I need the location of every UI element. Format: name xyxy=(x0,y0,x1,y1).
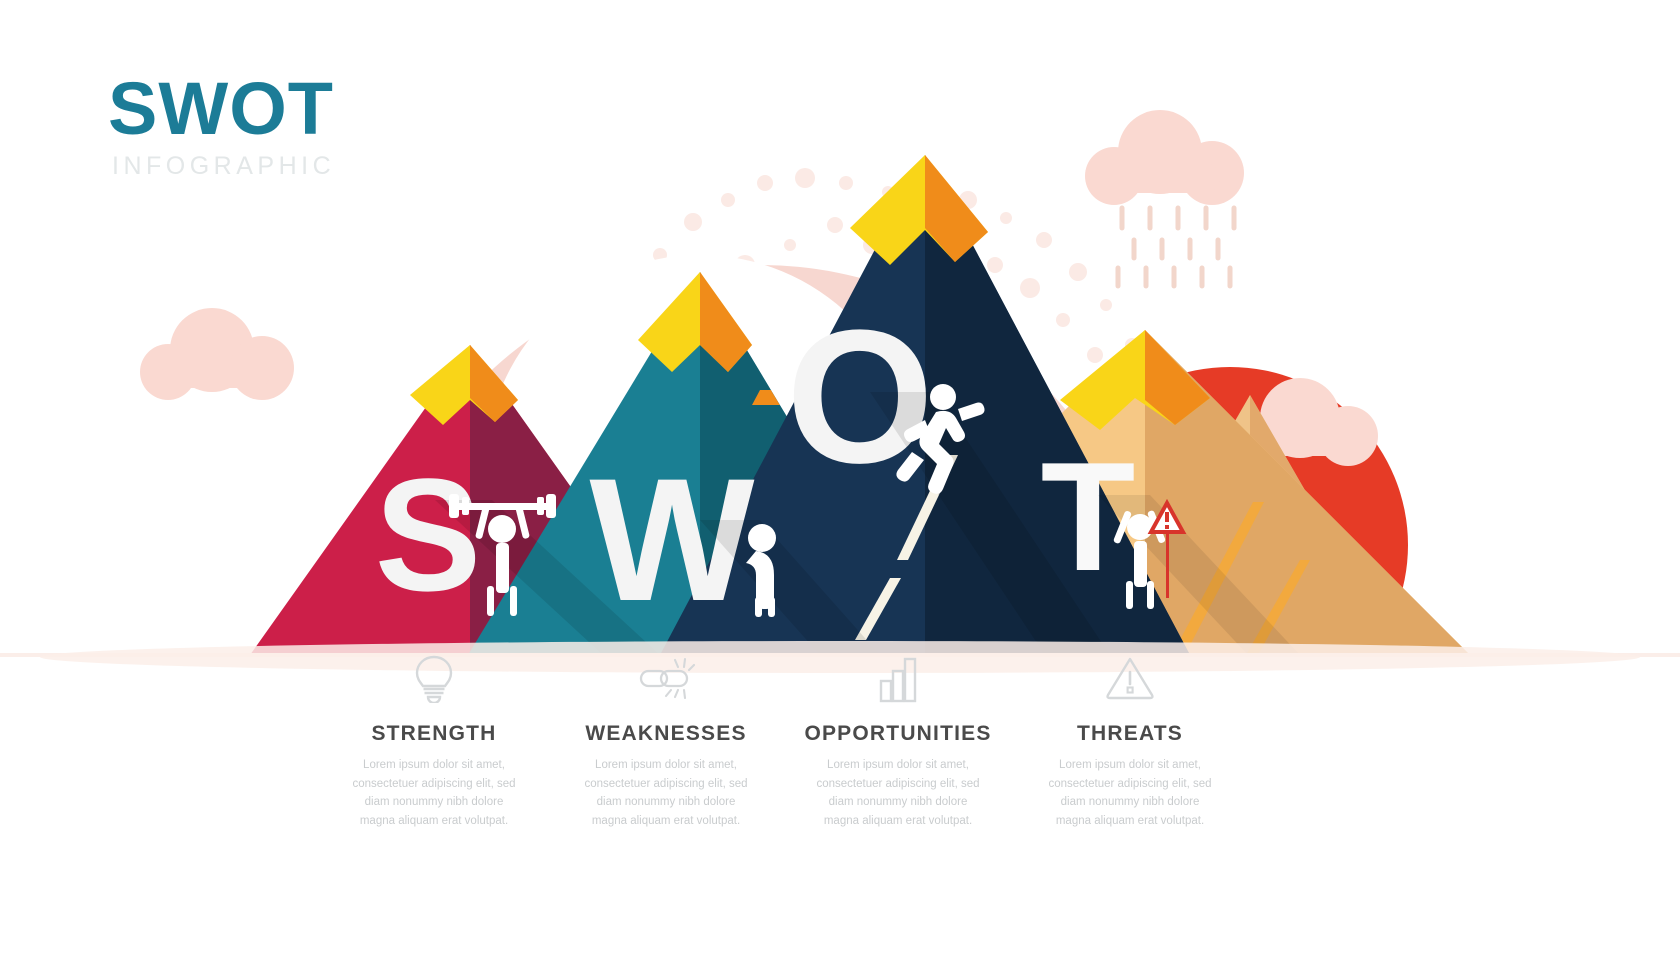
page-subtitle: INFOGRAPHIC xyxy=(112,152,528,181)
legend-body: Lorem ipsum dolor sit amet, consectetuer… xyxy=(816,756,980,831)
raindrops xyxy=(1118,208,1234,286)
legend-item-strength[interactable]: STRENGTH Lorem ipsum dolor sit amet, con… xyxy=(318,650,550,831)
legend-body: Lorem ipsum dolor sit amet, consectetuer… xyxy=(584,756,748,831)
legend-item-weaknesses[interactable]: WEAKNESSES Lorem ipsum dolor sit amet, c… xyxy=(550,650,782,831)
legend-body: Lorem ipsum dolor sit amet, consectetuer… xyxy=(1048,756,1212,831)
bar-chart-icon xyxy=(877,650,919,706)
broken-chain-icon xyxy=(637,650,695,706)
cloud-left xyxy=(140,308,294,400)
page-title: SWOT xyxy=(108,74,528,144)
lightbulb-icon xyxy=(412,650,456,706)
legend-title: THREATS xyxy=(1077,722,1183,746)
legend-title: OPPORTUNITIES xyxy=(804,722,991,746)
title-block: SWOT INFOGRAPHIC xyxy=(108,74,528,181)
legend-item-opportunities[interactable]: OPPORTUNITIES Lorem ipsum dolor sit amet… xyxy=(782,650,1014,831)
legend-title: STRENGTH xyxy=(371,722,496,746)
rain-cloud xyxy=(1085,110,1244,286)
swot-infographic-canvas: S W O T xyxy=(0,0,1680,980)
legend-row: STRENGTH Lorem ipsum dolor sit amet, con… xyxy=(318,650,1248,831)
legend-title: WEAKNESSES xyxy=(585,722,746,746)
legend-body: Lorem ipsum dolor sit amet, consectetuer… xyxy=(352,756,516,831)
legend-item-threats[interactable]: THREATS Lorem ipsum dolor sit amet, cons… xyxy=(1014,650,1246,831)
letter-s: S xyxy=(375,445,482,624)
warning-triangle-icon xyxy=(1105,650,1155,706)
